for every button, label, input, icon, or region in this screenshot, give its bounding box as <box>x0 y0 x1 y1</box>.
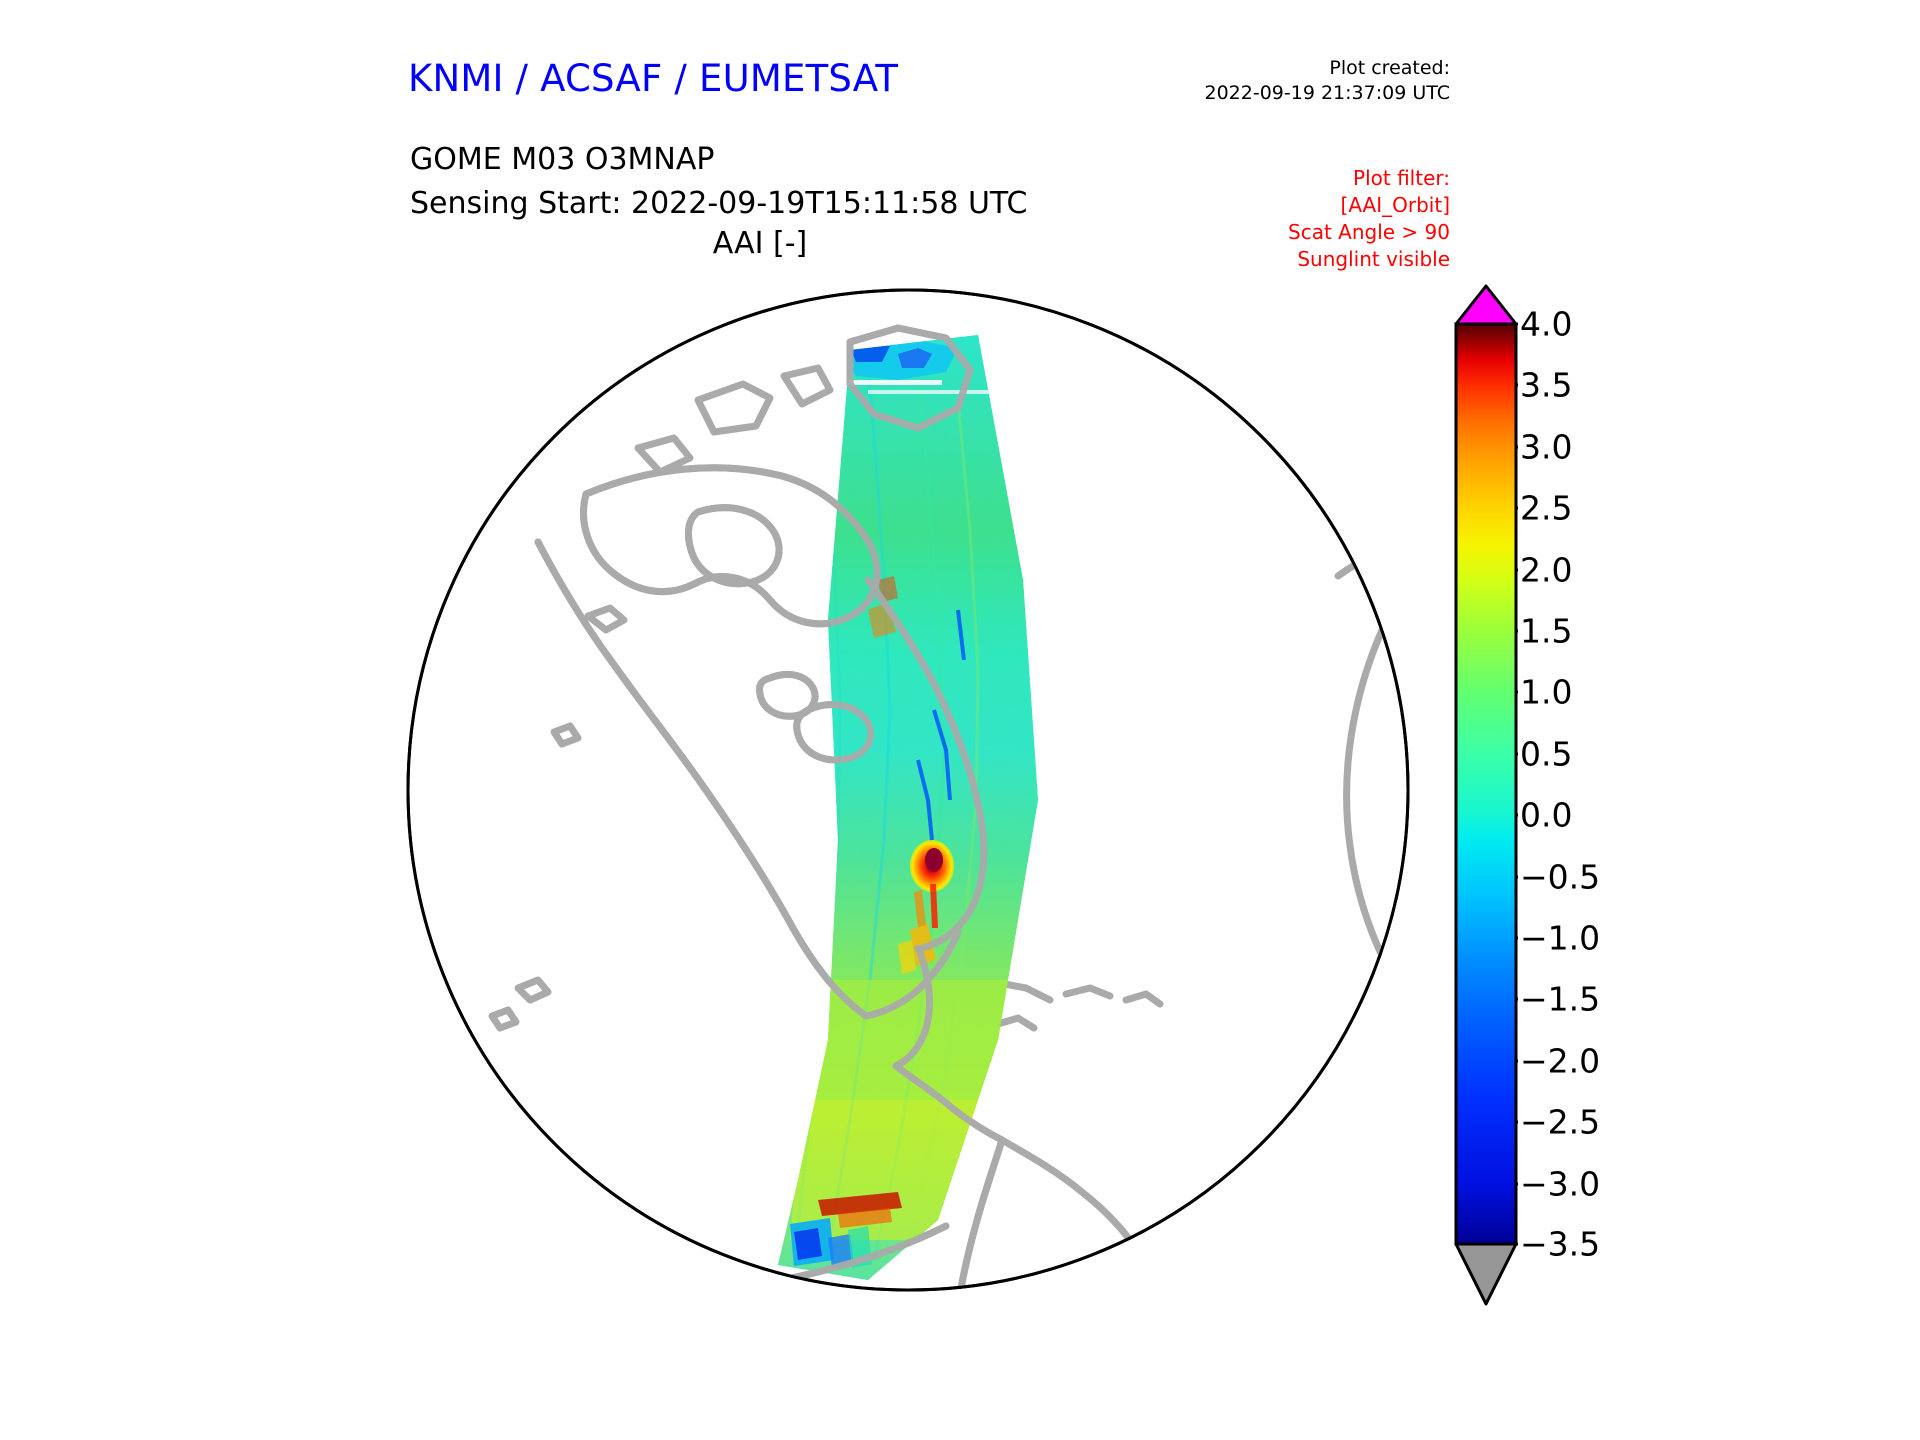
colorbar-tick-label: −2.0 <box>1520 1045 1600 1078</box>
plot-filter-line: Scat Angle > 90 <box>1190 219 1450 246</box>
colorbar-tick-label: 2.5 <box>1520 492 1572 525</box>
colorbar-tick-label: −3.5 <box>1520 1228 1600 1261</box>
title-block: GOME M03 O3MNAP Sensing Start: 2022-09-1… <box>410 138 1027 226</box>
variable-title: AAI [-] <box>410 226 1110 261</box>
organisation-title: KNMI / ACSAF / EUMETSAT <box>408 57 898 100</box>
plot-filter-line: Sunglint visible <box>1190 246 1450 273</box>
colorbar-tick-label: −1.0 <box>1520 922 1600 955</box>
colorbar-tick-label: −0.5 <box>1520 861 1600 894</box>
instrument-title: GOME M03 O3MNAP <box>410 138 1027 182</box>
colorbar-tick-label: 0.5 <box>1520 738 1572 771</box>
colorbar-tick-label: −1.5 <box>1520 983 1600 1016</box>
colorbar-gradient <box>1456 324 1516 1244</box>
colorbar-tick-label: 1.0 <box>1520 676 1572 709</box>
plot-created-timestamp: 2022-09-19 21:37:09 UTC <box>1160 81 1450 106</box>
colorbar-tick-label: 4.0 <box>1520 308 1572 341</box>
colorbar-tick-label: −3.0 <box>1520 1168 1600 1201</box>
plot-filter-line: Plot filter: <box>1190 165 1450 192</box>
colorbar <box>1448 282 1518 1312</box>
plot-created-label: Plot created: <box>1160 56 1450 81</box>
plot-filter-note: Plot filter: [AAI_Orbit] Scat Angle > 90… <box>1190 165 1450 273</box>
colorbar-over-arrow <box>1456 286 1516 324</box>
orthographic-globe <box>398 280 1418 1300</box>
colorbar-tick-label: 3.0 <box>1520 431 1572 464</box>
plot-created-block: Plot created: 2022-09-19 21:37:09 UTC <box>1160 56 1450 106</box>
colorbar-tick-label: 0.0 <box>1520 799 1572 832</box>
colorbar-tick-label: 3.5 <box>1520 369 1572 402</box>
plot-filter-line: [AAI_Orbit] <box>1190 192 1450 219</box>
colorbar-tick-label: 2.0 <box>1520 554 1572 587</box>
map-plot-area <box>398 280 1418 1300</box>
colorbar-tick-label: −2.5 <box>1520 1106 1600 1139</box>
colorbar-under-arrow <box>1456 1244 1516 1304</box>
sensing-start-title: Sensing Start: 2022-09-19T15:11:58 UTC <box>410 182 1027 226</box>
colorbar-svg <box>1448 282 1518 1312</box>
colorbar-tick-labels: 4.0 3.5 3.0 2.5 2.0 1.5 1.0 0.5 0.0 −0.5… <box>1520 282 1650 1312</box>
colorbar-tick-label: 1.5 <box>1520 615 1572 648</box>
